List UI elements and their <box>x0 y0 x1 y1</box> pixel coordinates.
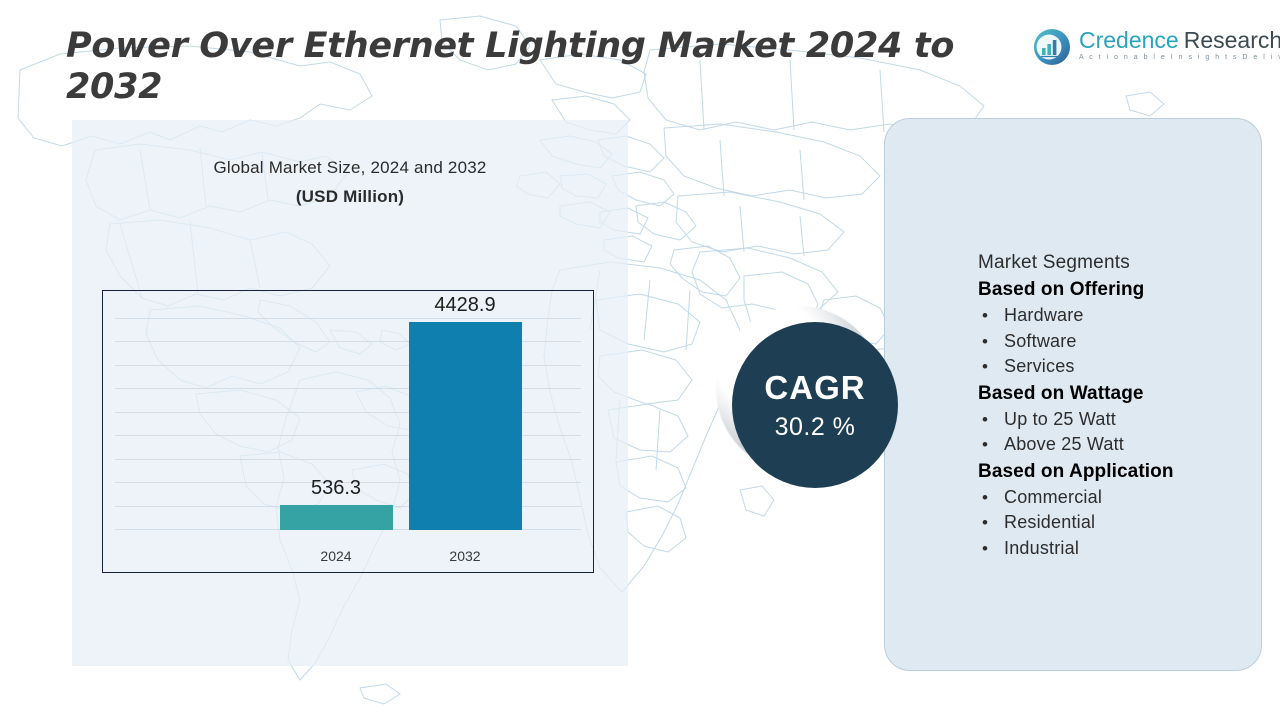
segment-list-item[interactable]: •Hardware <box>978 303 1258 329</box>
chart-plot-area: 536.320244428.92032 <box>103 291 593 572</box>
bullet-icon: • <box>978 485 1004 511</box>
segment-item-label: Residential <box>1004 510 1095 536</box>
chart-title: Global Market Size, 2024 and 2032 <box>72 158 628 178</box>
bar-2032[interactable] <box>409 322 522 530</box>
segment-list-item[interactable]: •Commercial <box>978 485 1258 511</box>
segment-list-item[interactable]: •Residential <box>978 510 1258 536</box>
segment-group-title: Based on Wattage <box>978 380 1258 407</box>
segment-list-item[interactable]: •Up to 25 Watt <box>978 407 1258 433</box>
bullet-icon: • <box>978 510 1004 536</box>
logo-word-research: Research <box>1184 27 1280 53</box>
cagr-label: CAGR <box>764 371 865 404</box>
segment-group-title: Based on Application <box>978 458 1258 485</box>
bullet-icon: • <box>978 354 1004 380</box>
segment-list-item[interactable]: •Software <box>978 329 1258 355</box>
segment-item-label: Industrial <box>1004 536 1079 562</box>
segment-item-label: Software <box>1004 329 1077 355</box>
logo-wordmark: CredenceResearch <box>1079 27 1280 53</box>
logo-word-credence: Credence <box>1079 27 1179 53</box>
segment-item-label: Commercial <box>1004 485 1102 511</box>
bullet-icon: • <box>978 407 1004 433</box>
cagr-circle: CAGR 30.2 % <box>732 322 898 488</box>
bar-2024[interactable] <box>280 505 393 530</box>
segments-heading: Market Segments <box>978 249 1258 276</box>
bar-value-label: 536.3 <box>250 477 423 500</box>
bar-value-label: 4428.9 <box>379 294 552 317</box>
segment-item-label: Hardware <box>1004 303 1084 329</box>
segment-group-title: Based on Offering <box>978 276 1258 303</box>
page-title: Power Over Ethernet Lighting Market 2024… <box>66 26 996 107</box>
bar-chart-circle-icon <box>1032 27 1072 67</box>
cagr-badge: CAGR 30.2 % <box>716 306 898 488</box>
segment-item-label: Above 25 Watt <box>1004 432 1124 458</box>
chart-subtitle: (USD Million) <box>72 187 628 207</box>
bullet-icon: • <box>978 303 1004 329</box>
segment-item-label: Up to 25 Watt <box>1004 407 1116 433</box>
category-label: 2032 <box>379 548 552 564</box>
infographic-canvas: Power Over Ethernet Lighting Market 2024… <box>0 0 1280 720</box>
cagr-value: 30.2 % <box>775 415 856 440</box>
bullet-icon: • <box>978 536 1004 562</box>
segment-item-label: Services <box>1004 354 1075 380</box>
chart-header: Global Market Size, 2024 and 2032 (USD M… <box>72 158 628 207</box>
bar-chart: 536.320244428.92032 <box>102 290 594 573</box>
segment-list-item[interactable]: •Industrial <box>978 536 1258 562</box>
brand-logo[interactable]: CredenceResearch A c t i o n a b l e I n… <box>1032 26 1254 72</box>
bullet-icon: • <box>978 432 1004 458</box>
segment-list-item[interactable]: •Services <box>978 354 1258 380</box>
logo-tagline: A c t i o n a b l e I n s i g h t s D e … <box>1079 54 1280 61</box>
bullet-icon: • <box>978 329 1004 355</box>
segment-list-item[interactable]: •Above 25 Watt <box>978 432 1258 458</box>
logo-text-block: CredenceResearch A c t i o n a b l e I n… <box>1079 26 1280 61</box>
market-segments-list: Market Segments Based on Offering•Hardwa… <box>978 249 1258 561</box>
